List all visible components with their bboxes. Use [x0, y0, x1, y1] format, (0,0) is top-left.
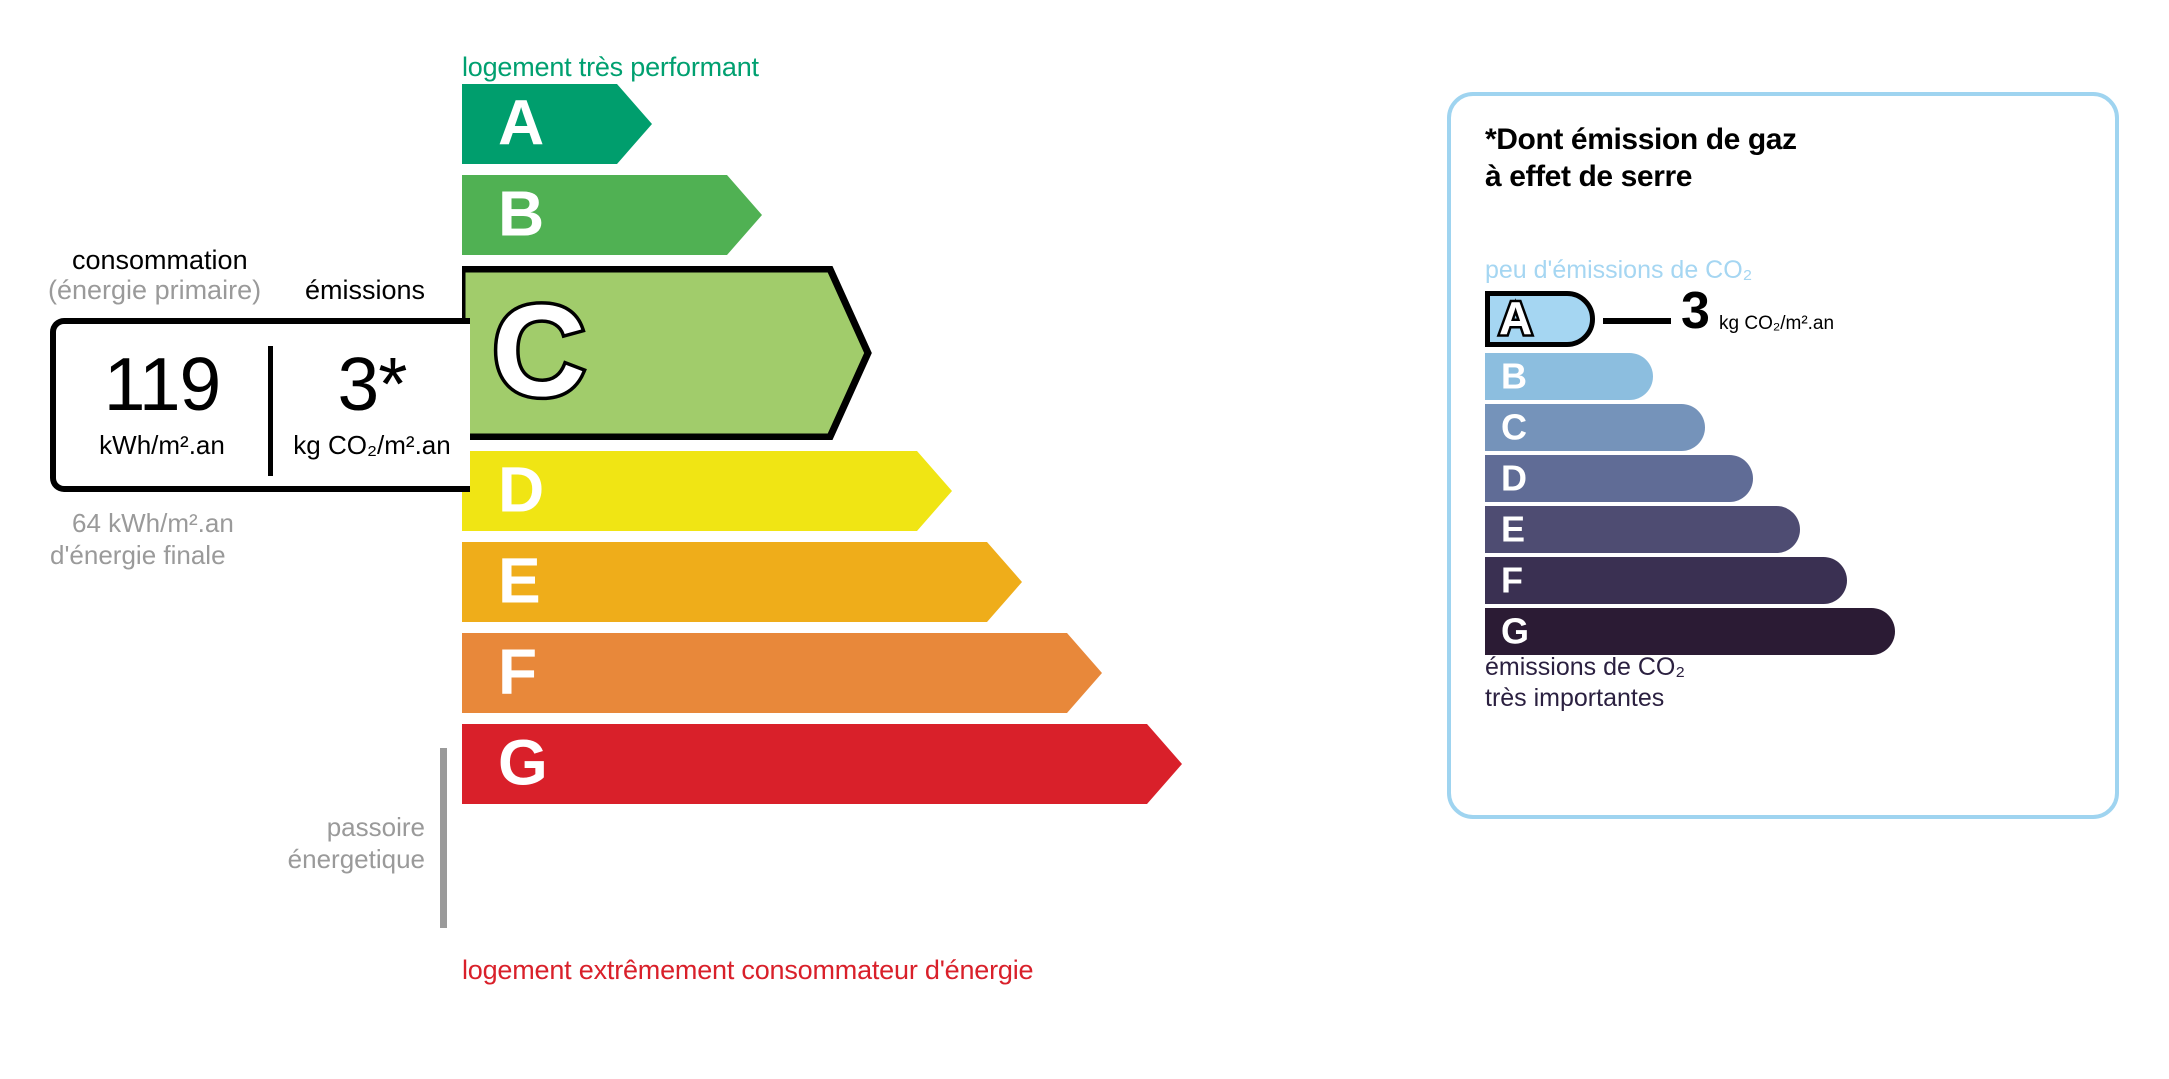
co2-bar-f[interactable]: F [1485, 557, 2085, 604]
co2-bar-c[interactable]: C [1485, 404, 2085, 451]
energy-band-a-shape [462, 84, 652, 164]
co2-leader-line [1603, 318, 1671, 324]
co2-bar-stack: A 3 kg CO₂/m².an B C D E F G [1485, 291, 2085, 659]
energy-band-g-shape [462, 724, 1182, 804]
co2-value: 3 [1681, 285, 1710, 337]
co2-title-line1: *Dont émission de gaz [1485, 122, 1797, 159]
energy-band-a[interactable]: A [462, 84, 1262, 164]
dpe-energy-panel: logement très performant A B C [0, 0, 1400, 1079]
co2-bar-g[interactable]: G [1485, 608, 2085, 655]
energy-band-stack: A B C D E [462, 84, 1262, 815]
energy-band-f[interactable]: F [462, 633, 1262, 713]
co2-bar-b[interactable]: B [1485, 353, 2085, 400]
co2-top-caption: peu d'émissions de CO₂ [1485, 256, 1752, 285]
energy-band-d[interactable]: D [462, 451, 1262, 531]
energy-band-d-shape [462, 451, 952, 531]
energy-value-box: 119 kWh/m².an 3* kg CO₂/m².an [50, 318, 470, 492]
co2-bar-a-letter: A [1499, 295, 1532, 341]
consumption-number: 119 [104, 349, 221, 420]
emission-number: 3* [338, 349, 407, 420]
co2-bar-e[interactable]: E [1485, 506, 2085, 553]
passoire-bracket [440, 748, 447, 928]
passoire-line1: passoire [265, 812, 425, 844]
energy-top-caption: logement très performant [462, 52, 759, 83]
energy-bottom-caption: logement extrêmement consommateur d'éner… [462, 955, 1033, 986]
consumption-sublabel: (énergie primaire) [48, 275, 261, 306]
energy-band-e[interactable]: E [462, 542, 1262, 622]
co2-bar-a-selected[interactable]: A 3 kg CO₂/m².an [1485, 291, 2085, 347]
emission-value-cell: 3* kg CO₂/m².an [268, 324, 476, 486]
co2-bar-g-letter: G [1501, 613, 1529, 649]
final-energy-note: 64 kWh/m².an d'énergie finale [72, 508, 234, 571]
co2-panel: *Dont émission de gaz à effet de serre p… [1447, 92, 2119, 819]
co2-title-line2: à effet de serre [1485, 159, 1797, 196]
co2-bar-d-letter: D [1501, 460, 1527, 496]
energy-band-c-selected[interactable]: C [462, 266, 1262, 440]
final-energy-line2: d'énergie finale [50, 540, 234, 572]
co2-bottom-caption-line1: émissions de CO₂ [1485, 652, 1685, 683]
co2-bar-d[interactable]: D [1485, 455, 2085, 502]
co2-bottom-caption: émissions de CO₂ très importantes [1485, 652, 1685, 713]
energy-band-e-shape [462, 542, 1022, 622]
emission-unit: kg CO₂/m².an [293, 430, 450, 461]
energy-band-c-shape [462, 266, 874, 440]
co2-bar-f-shape [1485, 557, 1847, 604]
energy-band-f-shape [462, 633, 1102, 713]
final-energy-line1: 64 kWh/m².an [72, 508, 234, 538]
co2-bar-e-letter: E [1501, 511, 1525, 547]
co2-bottom-caption-line2: très importantes [1485, 683, 1685, 714]
consumption-value-cell: 119 kWh/m².an [56, 324, 268, 486]
co2-bar-c-letter: C [1501, 409, 1527, 445]
co2-value-unit: kg CO₂/m².an [1719, 313, 1834, 335]
energy-band-b-shape [462, 175, 762, 255]
consumption-unit: kWh/m².an [99, 430, 225, 461]
energy-band-g[interactable]: G [462, 724, 1262, 804]
co2-bar-f-letter: F [1501, 562, 1523, 598]
co2-panel-title: *Dont émission de gaz à effet de serre [1485, 122, 1797, 195]
co2-bar-e-shape [1485, 506, 1800, 553]
energy-band-b[interactable]: B [462, 175, 1262, 255]
passoire-line2: énergetique [265, 844, 425, 876]
consumption-label: consommation [72, 245, 248, 276]
passoire-label: passoire énergetique [265, 812, 425, 875]
emissions-label: émissions [305, 275, 425, 306]
co2-bar-b-letter: B [1501, 358, 1527, 394]
co2-bar-g-shape [1485, 608, 1895, 655]
